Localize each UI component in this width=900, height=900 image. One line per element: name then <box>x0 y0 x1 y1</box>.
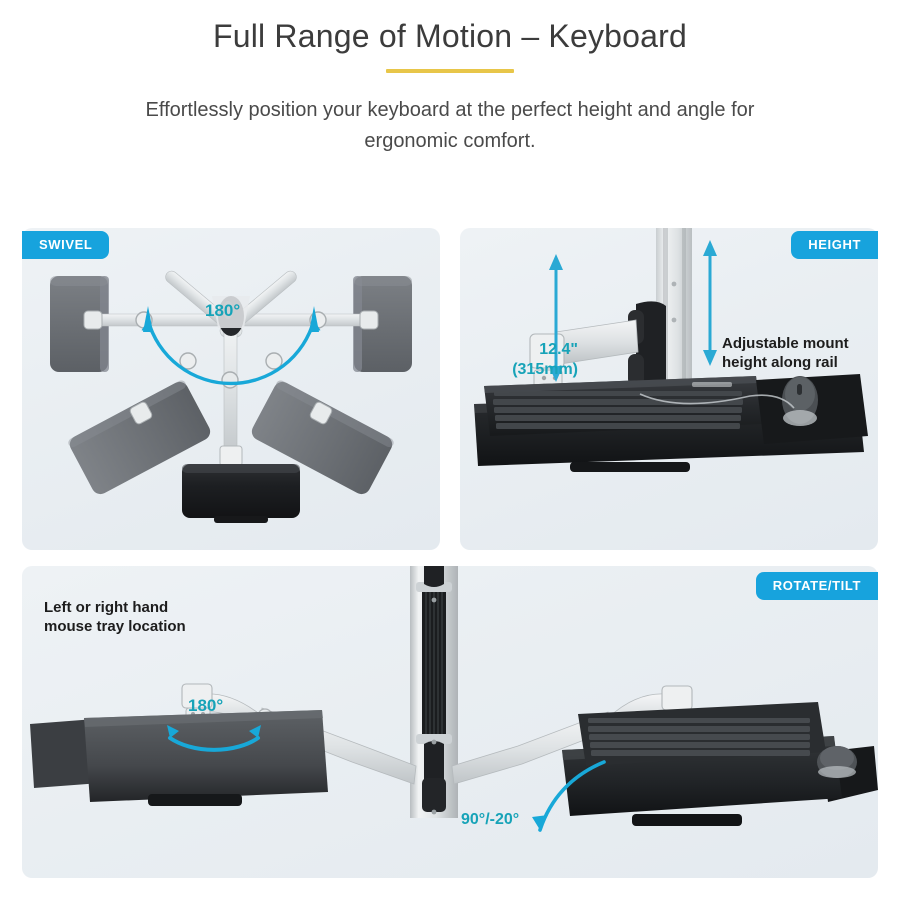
annotation-tilt-angle: 90°/-20° <box>461 810 519 830</box>
keyboard <box>484 376 762 436</box>
annotation-rail-note: Adjustable mount height along rail <box>722 334 872 372</box>
annotation-swivel-angle: 180° <box>205 300 240 322</box>
annotation-rotate-angle: 180° <box>188 695 223 717</box>
page-header: Full Range of Motion – Keyboard Effortle… <box>0 0 900 157</box>
center-pole <box>410 566 458 818</box>
panel-height <box>460 228 878 550</box>
swivel-illustration <box>22 228 440 550</box>
mouse <box>782 376 818 426</box>
title-underline-rule <box>386 69 514 73</box>
left-keyboard-tray <box>30 710 328 806</box>
badge-swivel[interactable]: SWIVEL <box>22 231 109 259</box>
tray-active-black <box>182 464 300 523</box>
annotation-mouse-tray-note: Left or right hand mouse tray location <box>44 598 254 636</box>
right-mouse <box>817 746 857 778</box>
page-subtitle: Effortlessly position your keyboard at t… <box>140 95 760 157</box>
rail-travel-arrow <box>703 240 717 366</box>
annotation-height-dimension: 12.4" (315mm) <box>500 340 578 381</box>
height-illustration <box>460 228 878 550</box>
badge-rotate-tilt[interactable]: ROTATE/TILT <box>756 572 878 600</box>
panel-swivel <box>22 228 440 550</box>
badge-height[interactable]: HEIGHT <box>791 231 878 259</box>
page-title: Full Range of Motion – Keyboard <box>0 18 900 55</box>
